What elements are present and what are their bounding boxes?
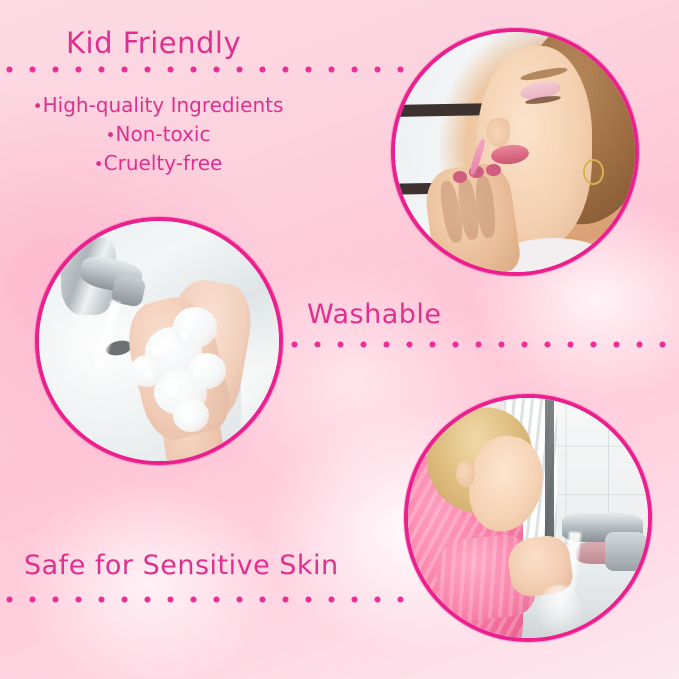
list-item: •Non-toxic bbox=[0, 121, 316, 150]
bullet-icon: • bbox=[106, 126, 116, 146]
heading-safe-for-sensitive-skin: Safe for Sensitive Skin bbox=[24, 550, 339, 581]
soap-bubble bbox=[193, 370, 201, 378]
divider-bottom-dotted-line bbox=[0, 594, 414, 605]
fingernail bbox=[453, 171, 467, 183]
soap-bubble bbox=[183, 413, 193, 423]
list-item-label: Cruelty-free bbox=[104, 151, 223, 175]
soap-bubble bbox=[145, 370, 152, 377]
heading-kid-friendly: Kid Friendly bbox=[66, 26, 241, 60]
list-item: •High-quality Ingredients bbox=[0, 92, 316, 121]
earring bbox=[583, 159, 604, 185]
soap-bubble bbox=[181, 331, 188, 338]
photo-image bbox=[395, 32, 635, 272]
divider-middle-dotted-line bbox=[283, 339, 679, 350]
photo-girl-washing-hands-at-sink bbox=[404, 394, 652, 642]
photo-image bbox=[39, 221, 279, 461]
nose bbox=[486, 118, 510, 147]
list-item: •Cruelty-free bbox=[0, 150, 316, 179]
heading-washable: Washable bbox=[307, 299, 442, 330]
photo-soapy-hands-under-faucet bbox=[35, 217, 283, 465]
divider-top-dotted-line bbox=[0, 64, 418, 75]
ear bbox=[456, 460, 475, 486]
faucet-base bbox=[605, 532, 646, 570]
photo-image bbox=[408, 398, 648, 638]
list-item-label: Non-toxic bbox=[116, 122, 211, 146]
fingernail bbox=[486, 164, 500, 176]
bullet-icon: • bbox=[33, 97, 43, 117]
feature-bullet-list: •High-quality Ingredients •Non-toxic •Cr… bbox=[0, 92, 316, 179]
water-splash bbox=[538, 585, 581, 633]
bullet-icon: • bbox=[94, 155, 104, 175]
product-feature-infographic: Kid Friendly Washable Safe for Sensitive… bbox=[0, 0, 679, 679]
list-item-label: High-quality Ingredients bbox=[43, 93, 284, 117]
wall-edge bbox=[545, 398, 555, 547]
photo-girl-applying-lip-gloss bbox=[391, 28, 639, 276]
soap-foam bbox=[173, 307, 216, 348]
